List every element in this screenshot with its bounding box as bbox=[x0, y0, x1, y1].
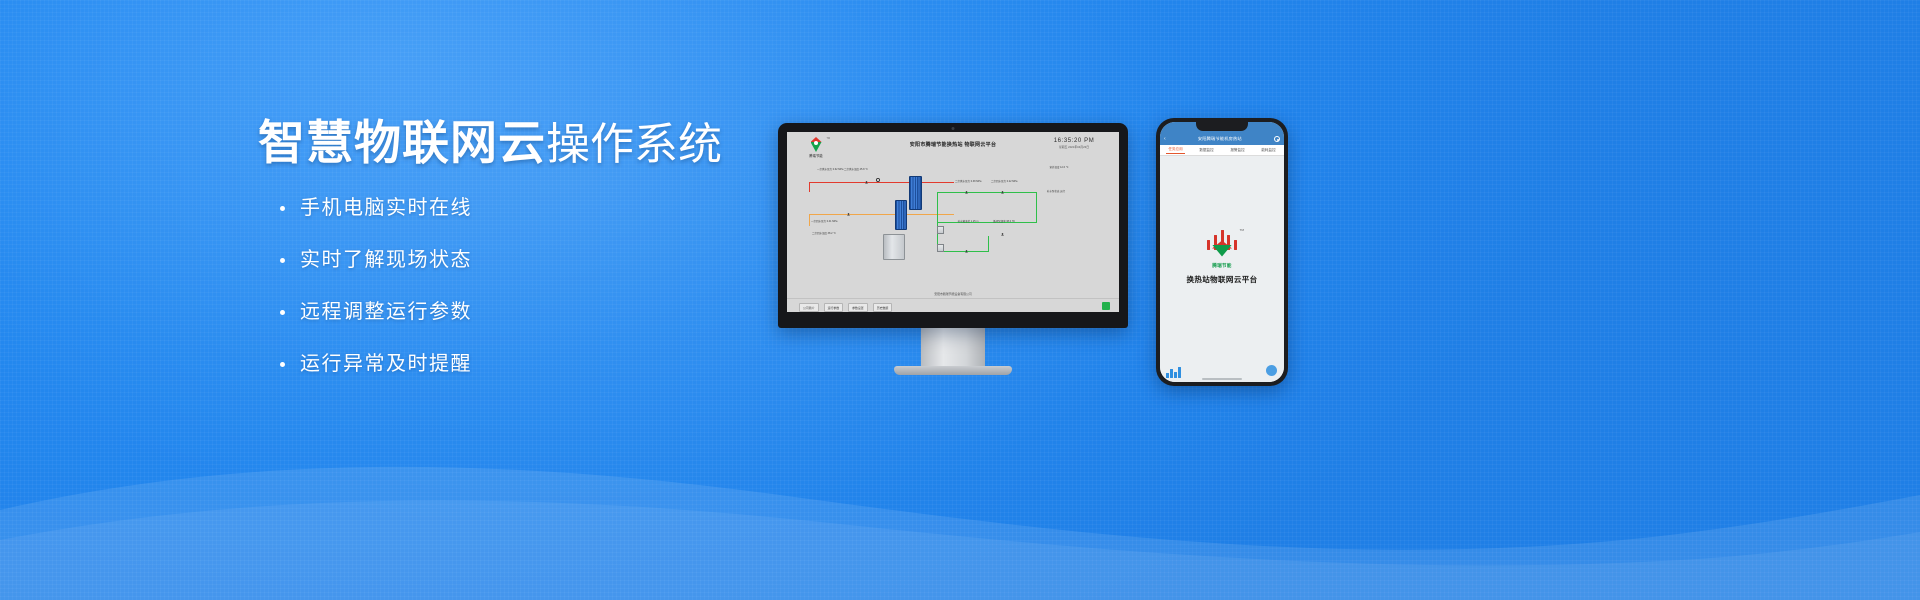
monitor-bezel: 腾瑞节能 TM 安阳市腾瑞节能换热站 物联网云平台 16:35:20 PM 星期… bbox=[778, 123, 1128, 328]
tab-param-settings[interactable]: 参数设置 bbox=[848, 303, 868, 312]
makeup-pump bbox=[937, 244, 944, 252]
monitor-screen: 腾瑞节能 TM 安阳市腾瑞节能换热站 物联网云平台 16:35:20 PM 星期… bbox=[787, 132, 1119, 312]
pipe-primary-supply-down bbox=[809, 182, 810, 192]
measurement-label: 补水箱液位 1.25 m bbox=[955, 220, 981, 223]
desktop-monitor-mockup: 腾瑞节能 TM 安阳市腾瑞节能换热站 物联网云平台 16:35:20 PM 星期… bbox=[778, 123, 1128, 375]
valve-bottom-2 bbox=[1001, 233, 1004, 236]
measurement-label: 循环泵频率 38.0 Hz bbox=[991, 220, 1017, 223]
phone-bottom-area bbox=[1160, 356, 1284, 382]
tab-run-params[interactable]: 运行参数 bbox=[824, 303, 844, 312]
pipe-primary-return-down bbox=[809, 214, 810, 226]
flow-meter-icon bbox=[876, 178, 880, 182]
app-logo: TM 腾瑞节能 bbox=[1200, 228, 1244, 268]
phone-notch bbox=[1196, 122, 1248, 131]
mobile-phone-mockup: ‹ 安阳腾瑞节能机房热站 任务应用 数据监控 报警监控 能耗监控 bbox=[1156, 118, 1288, 386]
phone-nav-title: 安阳腾瑞节能机房热站 bbox=[1166, 136, 1274, 142]
scada-app: 腾瑞节能 TM 安阳市腾瑞节能换热站 物联网云平台 16:35:20 PM 星期… bbox=[787, 132, 1119, 312]
pipe-primary-return bbox=[809, 214, 954, 215]
heat-exchanger-2 bbox=[895, 200, 907, 230]
page-title-strong: 智慧物联网云 bbox=[258, 116, 546, 169]
feature-label: 远程调整运行参数 bbox=[300, 301, 472, 323]
pipe-secondary-drop bbox=[937, 192, 938, 222]
feature-list: 手机电脑实时在线 实时了解现场状态 远程调整运行参数 运行异常及时提醒 bbox=[258, 198, 778, 374]
chart-bars-icon bbox=[1166, 367, 1181, 378]
bullet-dot-icon bbox=[280, 362, 285, 367]
feature-label: 手机电脑实时在线 bbox=[300, 197, 472, 219]
list-item: 远程调整运行参数 bbox=[280, 302, 778, 322]
footer-tab-bar[interactable]: 公司简介 运行参数 参数设置 历史数据 bbox=[799, 303, 892, 312]
app-title: 换热站物联网云平台 bbox=[1186, 274, 1257, 285]
gear-icon[interactable] bbox=[1274, 136, 1280, 142]
bullet-dot-icon bbox=[280, 258, 285, 263]
pipe-primary-supply bbox=[809, 182, 954, 183]
clock-time: 16:35:20 PM bbox=[1043, 138, 1105, 144]
page-title: 智慧物联网云操作系统 bbox=[258, 118, 778, 168]
phone-screen: ‹ 安阳腾瑞节能机房热站 任务应用 数据监控 报警监控 能耗监控 bbox=[1160, 122, 1284, 382]
logo-name: 腾瑞节能 bbox=[1200, 263, 1244, 269]
clock-date: 星期五 2021年04月23日 bbox=[1043, 145, 1105, 149]
scada-footer: 安阳市腾瑞节能设备有限公司 公司简介 运行参数 参数设置 历史数据 bbox=[787, 298, 1119, 312]
tab-alarm-monitor[interactable]: 报警监控 bbox=[1228, 147, 1246, 154]
tab-company-intro[interactable]: 公司简介 bbox=[799, 303, 819, 312]
measurement-label: 二次回水温度 38.2 ℃ bbox=[811, 232, 837, 235]
measurement-label: 补水泵状态 运行 bbox=[1043, 190, 1069, 193]
banner-copy: 智慧物联网云操作系统 手机电脑实时在线 实时了解现场状态 远程调整运行参数 运行… bbox=[258, 118, 778, 374]
pipe-secondary-supply bbox=[937, 192, 1037, 193]
home-indicator bbox=[1202, 378, 1242, 380]
logo-trademark: TM bbox=[1240, 228, 1244, 232]
logo-trademark: TM bbox=[827, 137, 830, 140]
process-diagram: 一次供水压力 0.62 MPa 二次供水温度 45.8 ℃ 一次回水压力 0.4… bbox=[787, 158, 1119, 298]
status-badge[interactable] bbox=[1102, 302, 1110, 310]
water-tank bbox=[883, 234, 905, 260]
measurement-label: 一次供水压力 0.62 MPa bbox=[817, 168, 843, 171]
tab-task-apps[interactable]: 任务应用 bbox=[1166, 146, 1184, 154]
measurement-label: 二次回水压力 0.22 MPa bbox=[991, 180, 1017, 183]
phone-navbar: ‹ 安阳腾瑞节能机房热站 bbox=[1160, 133, 1284, 145]
pipe-secondary-return bbox=[937, 222, 1037, 223]
floating-action-button[interactable] bbox=[1266, 365, 1277, 376]
phone-tab-bar[interactable]: 任务应用 数据监控 报警监控 能耗监控 bbox=[1160, 145, 1284, 156]
clock-widget: 16:35:20 PM 星期五 2021年04月23日 bbox=[1043, 138, 1105, 149]
bullet-dot-icon bbox=[280, 310, 285, 315]
monitor-stand-base bbox=[894, 366, 1012, 375]
page-title-light: 操作系统 bbox=[546, 120, 722, 169]
pipe-secondary-bottom-riser bbox=[988, 236, 989, 252]
bullet-dot-icon bbox=[280, 206, 285, 211]
circulation-pump bbox=[937, 226, 944, 234]
measurement-label: 室外温度 12.6 ℃ bbox=[1045, 166, 1073, 169]
scada-header: 腾瑞节能 TM 安阳市腾瑞节能换热站 物联网云平台 16:35:20 PM 星期… bbox=[787, 132, 1119, 158]
feature-label: 运行异常及时提醒 bbox=[300, 353, 472, 375]
pipe-secondary-riser bbox=[1036, 192, 1037, 222]
pipe-secondary-bottom bbox=[937, 251, 989, 252]
list-item: 实时了解现场状态 bbox=[280, 250, 778, 270]
phone-main-content: TM 腾瑞节能 换热站物联网云平台 bbox=[1160, 156, 1284, 356]
phone-body: ‹ 安阳腾瑞节能机房热站 任务应用 数据监控 报警监控 能耗监控 bbox=[1156, 118, 1288, 386]
measurement-label: 二次供水压力 0.38 MPa bbox=[955, 180, 981, 183]
measurement-label: 一次回水压力 0.41 MPa bbox=[811, 220, 837, 223]
list-item: 手机电脑实时在线 bbox=[280, 198, 778, 218]
tab-data-monitor[interactable]: 数据监控 bbox=[1197, 147, 1215, 154]
tab-energy-monitor[interactable]: 能耗监控 bbox=[1259, 147, 1277, 154]
measurement-label: 二次供水温度 45.8 ℃ bbox=[843, 168, 869, 171]
logo-green-triangle-icon bbox=[1212, 245, 1232, 257]
list-item: 运行异常及时提醒 bbox=[280, 354, 778, 374]
footer-copyright: 安阳市腾瑞节能设备有限公司 bbox=[787, 292, 1119, 296]
webcam-icon bbox=[952, 127, 955, 130]
monitor-stand-neck bbox=[921, 328, 985, 366]
heat-exchanger-1 bbox=[909, 176, 922, 210]
feature-label: 实时了解现场状态 bbox=[300, 249, 472, 271]
tab-history-data[interactable]: 历史数据 bbox=[873, 303, 893, 312]
